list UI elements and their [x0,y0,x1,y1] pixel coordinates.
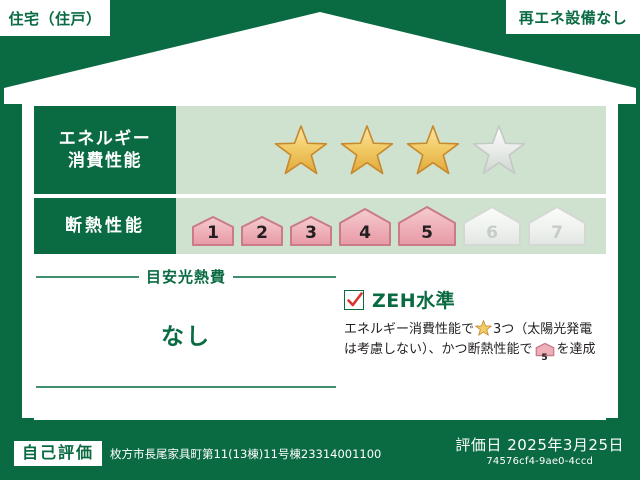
energy-performance-key-line1: エネルギー [59,128,152,150]
zeh-desc-part3: を達成 [557,342,596,357]
insulation-badge-5-label: 5 [396,225,458,242]
utility-cost-heading: 目安光熱費 [36,266,336,287]
energy-performance-key-line2: 消費性能 [68,150,142,172]
tab-building-type[interactable]: 住宅（住戸） [0,0,110,36]
zeh-description: エネルギー消費性能で3つ（太陽光発電は考慮しない）、かつ断熱性能で5を達成 [344,320,606,364]
checkbox-zeh[interactable] [344,290,364,310]
utility-cost-bottom-rule [36,386,336,388]
evaluation-id: 74576cf4-9ae0-4ccd [455,456,624,468]
star-rating [274,123,526,177]
insulation-badge-3: 3 [288,214,334,248]
zeh-desc-star-count: 3つ（太陽光発電 [493,322,592,337]
zeh-heading: ZEH水準 [344,286,606,313]
self-evaluation-badge: 自己評価 [14,441,102,466]
label-subtitle: 建築物省エネ法に基づく [0,38,640,54]
star-icon-filled-3 [406,123,460,177]
page-title: 省エネ性能ラベル [0,56,640,87]
insulation-badge-7: 7 [526,204,588,248]
energy-performance-value [176,106,606,194]
inline-star-icon [475,320,492,336]
footer-left: 自己評価 枚方市長尾家具町第11(13棟)11号棟23314001100 [14,441,381,466]
energy-performance-key: エネルギー 消費性能 [34,106,176,194]
inner-panel: エネルギー 消費性能 [22,96,618,418]
insulation-badge-5: 5 [396,204,458,248]
insulation-badge-2-label: 2 [239,225,285,242]
star-icon-filled-1 [274,123,328,177]
footer-right: 評価日 2025年3月25日 74576cf4-9ae0-4ccd [455,436,624,468]
insulation-performance-key: 断熱性能 [34,198,176,254]
insulation-badge-1-label: 1 [190,225,236,242]
utility-cost-block: 目安光熱費 なし [36,266,336,351]
insulation-badge-row: 1 2 3 [190,204,588,248]
heading-rule-right [233,276,336,278]
zeh-desc-part2: は考慮しない）、かつ断熱性能で [344,342,533,357]
property-address: 枚方市長尾家具町第11(13棟)11号棟23314001100 [110,446,381,462]
star-icon-filled-2 [340,123,394,177]
zeh-desc-part1: エネルギー消費性能で [344,322,474,337]
insulation-badge-6-label: 6 [461,225,523,242]
tab-renewable-energy[interactable]: 再エネ設備なし [506,0,640,34]
star-icon-empty-4 [472,123,526,177]
insulation-badge-6: 6 [461,204,523,248]
inline-insulation-badge: 5 [535,342,555,364]
insulation-badge-2: 2 [239,214,285,248]
insulation-badge-3-label: 3 [288,225,334,242]
utility-cost-value: なし [36,317,336,351]
heading-rule-left [36,276,139,278]
energy-performance-label: 住宅（住戸） 再エネ設備なし 建築物省エネ法に基づく 省エネ性能ラベル エネルギ… [0,0,640,480]
tab-renewable-energy-label: 再エネ設備なし [519,7,628,28]
insulation-badge-1: 1 [190,214,236,248]
insulation-badge-7-label: 7 [526,225,588,242]
insulation-performance-value: 1 2 3 [176,198,606,254]
zeh-title: ZEH水準 [372,286,455,313]
insulation-performance-row: 断熱性能 [34,198,606,254]
title-block: 建築物省エネ法に基づく 省エネ性能ラベル [0,38,640,87]
zeh-block: ZEH水準 エネルギー消費性能で3つ（太陽光発電は考慮しない）、かつ断熱性能で5… [344,286,606,364]
insulation-performance-key-label: 断熱性能 [65,215,145,237]
utility-cost-heading-label: 目安光熱費 [146,266,226,287]
insulation-badge-4: 4 [337,206,393,248]
evaluation-date: 評価日 2025年3月25日 [455,436,624,454]
energy-performance-row: エネルギー 消費性能 [34,106,606,194]
tab-building-type-label: 住宅（住戸） [8,8,101,29]
check-icon [346,291,364,309]
inline-insulation-badge-label: 5 [535,354,555,363]
insulation-badge-4-label: 4 [337,225,393,242]
